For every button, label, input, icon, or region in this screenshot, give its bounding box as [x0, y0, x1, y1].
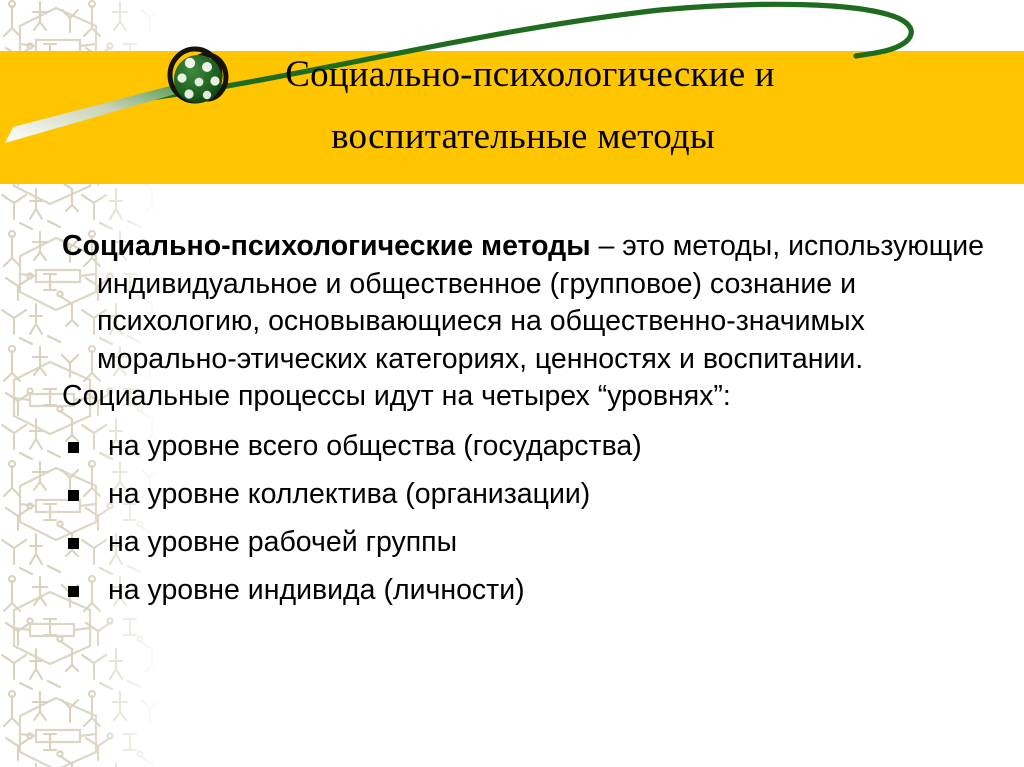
presentation-slide: Социально-психологические и воспитательн… — [0, 0, 1024, 767]
list-item: на уровне всего общества (государства) — [62, 422, 1012, 470]
definition-lead: Социально-психологические методы — [62, 230, 591, 262]
definition-paragraph: Социально-психологические методы – это м… — [62, 228, 1012, 378]
list-item-label: на уровне всего общества (государства) — [108, 430, 642, 462]
list-item-label: на уровне коллектива (организации) — [108, 478, 590, 510]
square-bullet-icon — [68, 442, 79, 453]
list-item: на уровне индивида (личности) — [62, 566, 1012, 614]
slide-title: Социально-психологические и воспитательн… — [0, 44, 1024, 168]
list-item: на уровне рабочей группы — [62, 518, 1012, 566]
levels-list: на уровне всего общества (государства) н… — [62, 422, 1012, 614]
square-bullet-icon — [68, 538, 79, 549]
levels-intro: Социальные процессы идут на четырех “уро… — [62, 378, 1012, 416]
square-bullet-icon — [68, 586, 79, 597]
list-item-label: на уровне индивида (личности) — [108, 574, 525, 606]
square-bullet-icon — [68, 490, 79, 501]
slide-body: Социально-психологические методы – это м… — [62, 228, 1012, 614]
title-line-1: Социально-психологические и — [0, 44, 1024, 106]
list-item: на уровне коллектива (организации) — [62, 470, 1012, 518]
list-item-label: на уровне рабочей группы — [108, 526, 457, 558]
title-line-2: воспитательные методы — [0, 106, 1024, 168]
